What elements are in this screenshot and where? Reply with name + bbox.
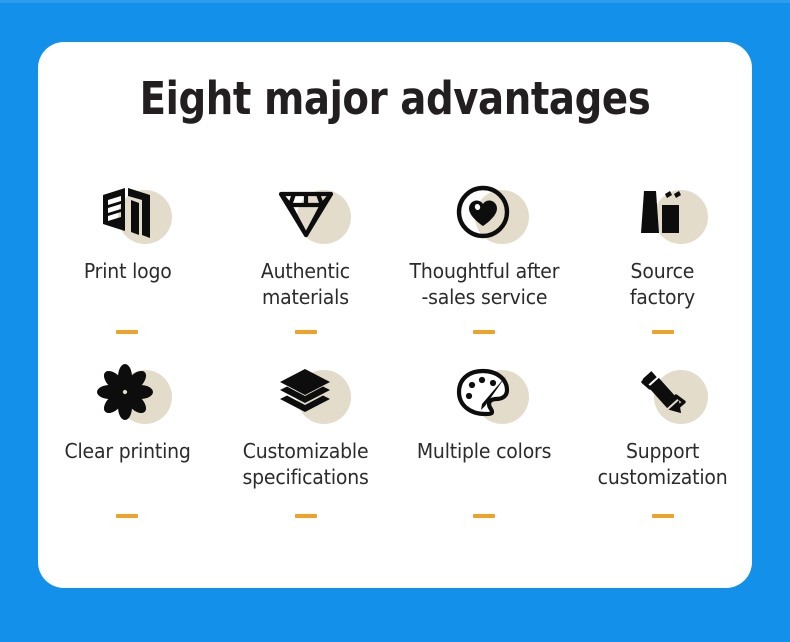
icon-container bbox=[72, 360, 182, 426]
advantage-label: Clear printing bbox=[64, 438, 190, 464]
accent-rule bbox=[116, 330, 138, 334]
accent-rule bbox=[116, 514, 138, 518]
icon-container bbox=[251, 180, 361, 246]
advantage-item-source-factory[interactable]: Source factory bbox=[574, 180, 753, 360]
accent-rule bbox=[652, 514, 674, 518]
heart-in-circle-icon bbox=[452, 183, 516, 243]
pencil-icon bbox=[631, 363, 695, 423]
advantage-label: Thoughtful after -sales service bbox=[409, 258, 559, 310]
top-accent-strip bbox=[0, 0, 790, 3]
advantage-item-after-sales-service[interactable]: Thoughtful after -sales service bbox=[395, 180, 574, 360]
advantage-label: Source factory bbox=[630, 258, 695, 310]
page-root: Eight major advantages Print logo bbox=[0, 0, 790, 642]
icon-container bbox=[251, 360, 361, 426]
advantage-label: Multiple colors bbox=[417, 438, 551, 464]
advantage-item-support-customization[interactable]: Support customization bbox=[574, 360, 753, 540]
advantage-item-authentic-materials[interactable]: Authentic materials bbox=[217, 180, 396, 360]
advantage-item-print-logo[interactable]: Print logo bbox=[38, 180, 217, 360]
icon-container bbox=[429, 180, 539, 246]
advantages-card: Eight major advantages Print logo bbox=[38, 42, 752, 588]
advantage-item-multiple-colors[interactable]: Multiple colors bbox=[395, 360, 574, 540]
paint-palette-icon bbox=[452, 363, 516, 423]
advantage-label: Print logo bbox=[83, 258, 171, 284]
page-title: Eight major advantages bbox=[88, 72, 702, 125]
diamond-icon bbox=[274, 183, 338, 243]
factory-icon bbox=[631, 183, 695, 243]
advantage-item-customizable-specs[interactable]: Customizable specifications bbox=[217, 360, 396, 540]
accent-rule bbox=[473, 330, 495, 334]
accent-rule bbox=[295, 330, 317, 334]
flower-asterisk-icon bbox=[95, 363, 159, 423]
advantage-label: Support customization bbox=[598, 438, 728, 490]
icon-container bbox=[608, 180, 718, 246]
icon-container bbox=[608, 360, 718, 426]
advantage-item-clear-printing[interactable]: Clear printing bbox=[38, 360, 217, 540]
print-logo-icon bbox=[95, 183, 159, 243]
icon-container bbox=[72, 180, 182, 246]
stacked-layers-icon bbox=[274, 363, 338, 423]
advantages-grid: Print logo Authentic mat bbox=[38, 180, 752, 540]
advantage-label: Customizable specifications bbox=[243, 438, 369, 490]
advantage-label: Authentic materials bbox=[261, 258, 350, 310]
accent-rule bbox=[473, 514, 495, 518]
accent-rule bbox=[295, 514, 317, 518]
icon-container bbox=[429, 360, 539, 426]
accent-rule bbox=[652, 330, 674, 334]
